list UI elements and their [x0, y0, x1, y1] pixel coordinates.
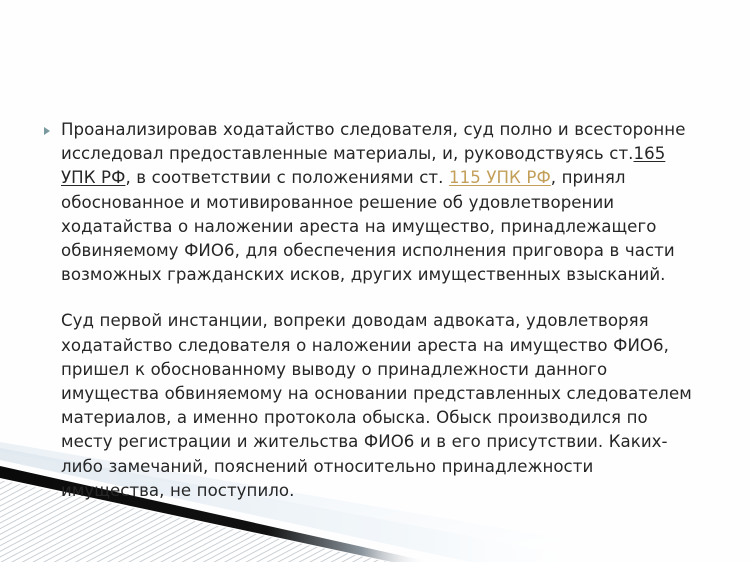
bullet-list-item: Проанализировав ходатайство следователя,… [44, 118, 696, 503]
slide-canvas: Проанализировав ходатайство следователя,… [0, 0, 750, 562]
link-article-115-upk-rf[interactable]: 115 УПК РФ [449, 168, 551, 187]
paragraph-one-segment-1: Проанализировав ходатайство следователя,… [61, 120, 685, 163]
slide-body: Проанализировав ходатайство следователя,… [44, 118, 696, 503]
paragraph-two: Суд первой инстанции, вопреки доводам ад… [61, 309, 696, 503]
paragraph-one-segment-2: , в соответствии с положениями ст. [125, 168, 449, 187]
paragraph-one: Проанализировав ходатайство следователя,… [61, 118, 696, 287]
triangle-bullet-icon [44, 127, 50, 135]
